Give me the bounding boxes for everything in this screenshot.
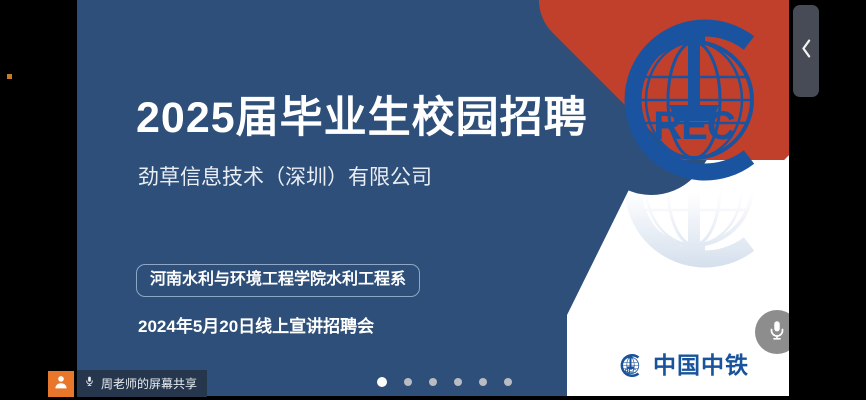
participant-avatar[interactable] — [48, 371, 74, 397]
crec-logo-reflection: REC — [599, 192, 789, 282]
microphone-icon — [766, 319, 788, 346]
stray-marker-dot — [7, 74, 12, 79]
pager-dot-5[interactable] — [479, 378, 487, 386]
brand-lockup: REC 中国中铁 — [617, 352, 749, 379]
slide-subtitle: 劲草信息技术（深圳）有限公司 — [138, 167, 432, 188]
crec-small-mark-icon: REC — [617, 352, 644, 379]
svg-text:REC: REC — [653, 104, 735, 148]
person-icon — [53, 374, 69, 395]
slide-date-line: 2024年5月20日线上宣讲招聘会 — [138, 318, 374, 335]
collapse-panel-button[interactable] — [793, 5, 819, 97]
screen-share-viewer: REC REC — [0, 0, 866, 400]
svg-text:REC: REC — [625, 369, 637, 375]
pager-dot-6[interactable] — [504, 378, 512, 386]
microphone-icon — [84, 374, 95, 393]
slide-department-badge: 河南水利与环境工程学院水利工程系 — [136, 264, 420, 297]
pager-dot-2[interactable] — [404, 378, 412, 386]
chevron-left-icon — [800, 38, 813, 64]
pager-dot-3[interactable] — [429, 378, 437, 386]
mic-toggle-button[interactable] — [755, 310, 789, 354]
share-label-text: 周老师的屏幕共享 — [101, 378, 197, 390]
screen-share-label: 周老师的屏幕共享 — [77, 370, 207, 397]
slide-title: 2025届毕业生校园招聘 — [136, 97, 588, 140]
pager-dot-1[interactable] — [377, 377, 387, 387]
brand-name: 中国中铁 — [653, 354, 749, 377]
crec-logo: REC — [599, 5, 789, 195]
slide-pager[interactable] — [377, 376, 577, 388]
pager-dot-4[interactable] — [454, 378, 462, 386]
shared-slide[interactable]: REC REC — [77, 0, 789, 396]
